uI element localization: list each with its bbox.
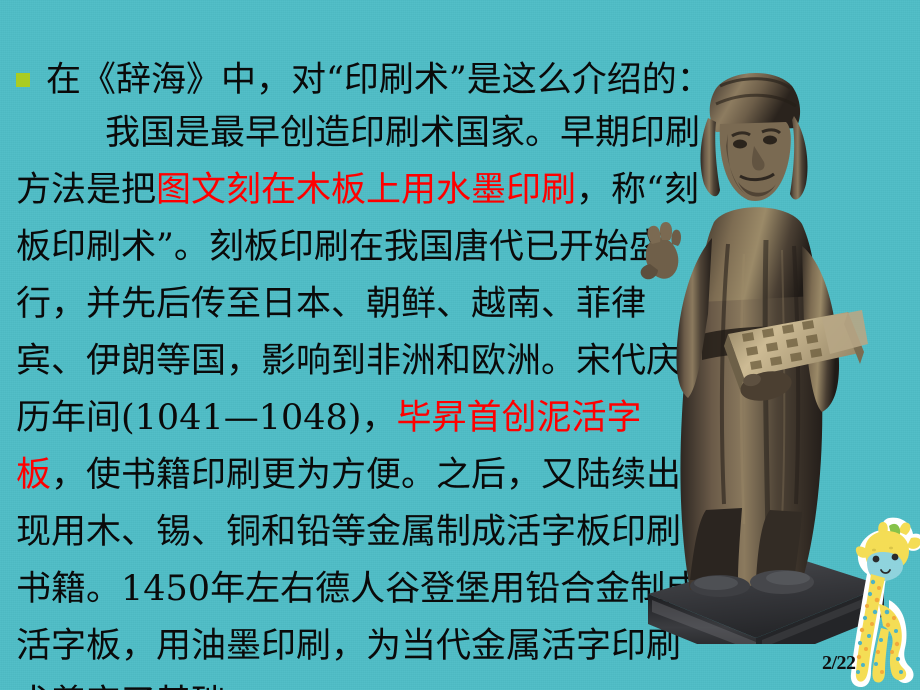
slide-text-block: 在《辞海》中，对“印刷术”是这么介绍的： 我国是最早创造印刷术国家。早期印刷方法…	[16, 52, 706, 690]
heading-bullet-row: 在《辞海》中，对“印刷术”是这么介绍的：	[16, 52, 706, 109]
giraffe-eye-left	[873, 556, 880, 563]
statue-head	[701, 73, 808, 201]
body-segment-1: 图文刻在木板上用水墨印刷	[156, 170, 576, 210]
cartoon-giraffe-icon	[845, 512, 920, 690]
giraffe-eye-right	[892, 554, 899, 561]
slide-canvas: 在《辞海》中，对“印刷术”是这么介绍的： 我国是最早创造印刷术国家。早期印刷方法…	[0, 0, 920, 690]
square-bullet-icon	[16, 73, 30, 87]
page-number: 2/22	[822, 652, 856, 675]
statue-book-object	[724, 310, 868, 390]
body-paragraph: 我国是最早创造印刷术国家。早期印刷方法是把图文刻在木板上用水墨印刷，称“刻板印刷…	[16, 105, 706, 690]
body-segment-4: ，使书籍印刷更为方便。之后，又陆续出现用木、锡、铜和铅等金属制成活字板印刷书籍。…	[16, 455, 700, 690]
statue-legs	[690, 508, 814, 597]
statue-right-hand	[738, 367, 795, 405]
heading-text: 在《辞海》中，对“印刷术”是这么介绍的：	[46, 52, 712, 109]
